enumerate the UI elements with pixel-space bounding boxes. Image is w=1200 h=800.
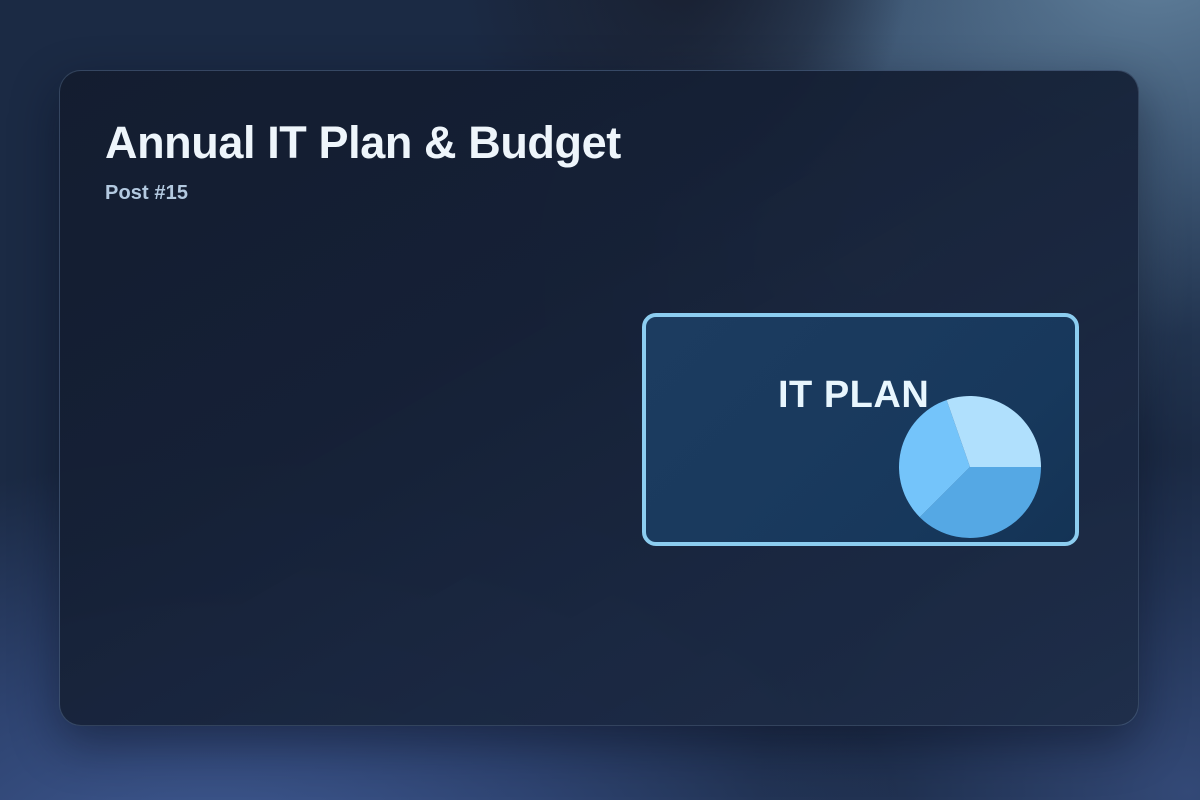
heading-block: Annual IT Plan & Budget Post #15 xyxy=(105,119,621,205)
it-plan-illustration-card: IT PLAN xyxy=(642,313,1079,546)
page-title: Annual IT Plan & Budget xyxy=(105,119,621,166)
page-subtitle: Post #15 xyxy=(105,182,621,205)
content-panel: Annual IT Plan & Budget Post #15 IT PLAN xyxy=(59,70,1139,726)
pie-chart-icon xyxy=(899,396,1041,538)
